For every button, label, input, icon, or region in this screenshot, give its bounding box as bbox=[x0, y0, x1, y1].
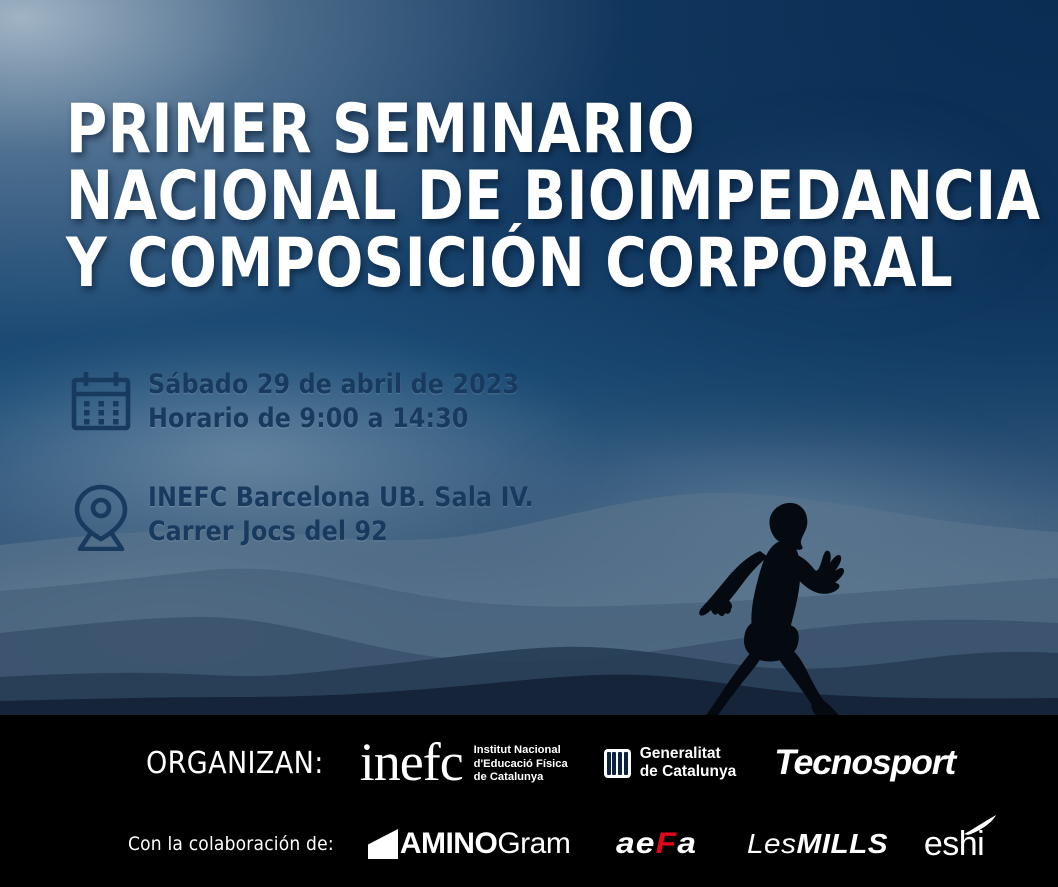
page-title: PRIMER SEMINARIO NACIONAL DE BIOIMPEDANC… bbox=[66, 96, 876, 298]
event-date-line-1: Sábado 29 de abril de 2023 bbox=[148, 368, 519, 402]
event-location-line-2: Carrer Jocs del 92 bbox=[148, 515, 534, 549]
logo-aminogram[interactable]: AMINOGram bbox=[368, 829, 571, 859]
aefa-part-3: a bbox=[678, 827, 698, 860]
inefc-tagline: Institut Nacional d'Educació Física de C… bbox=[474, 744, 568, 786]
title-line-2: NACIONAL DE BIOIMPEDANCIA bbox=[66, 163, 876, 230]
organizers-row: ORGANIZAN: inefc Institut Nacional d'Edu… bbox=[0, 715, 1058, 811]
event-location-row: INEFC Barcelona UB. Sala IV. Carrer Jocs… bbox=[70, 481, 690, 551]
event-date-row: Sábado 29 de abril de 2023 Horario de 9:… bbox=[70, 368, 690, 437]
logo-eshi[interactable]: eshi bbox=[924, 825, 984, 864]
event-date-text: Sábado 29 de abril de 2023 Horario de 9:… bbox=[148, 368, 519, 437]
collaborators-label: Con la colaboración de: bbox=[128, 833, 334, 855]
location-pin-icon bbox=[70, 481, 148, 551]
lesmills-part-2: MILLS bbox=[796, 828, 888, 859]
event-location-text: INEFC Barcelona UB. Sala IV. Carrer Jocs… bbox=[148, 481, 534, 550]
inefc-tagline-line-2: d'Educació Física bbox=[474, 758, 568, 772]
aminogram-mark-icon bbox=[368, 829, 398, 859]
aminogram-bold: AMINO bbox=[400, 827, 498, 860]
eshi-swoosh-icon bbox=[962, 814, 1002, 836]
calendar-icon bbox=[70, 368, 148, 432]
inefc-tagline-line-1: Institut Nacional bbox=[474, 744, 568, 758]
aminogram-light: Gram bbox=[497, 827, 570, 860]
event-details: Sábado 29 de abril de 2023 Horario de 9:… bbox=[70, 368, 690, 595]
generalitat-line-1: Generalitat bbox=[640, 745, 736, 763]
generalitat-shield-icon bbox=[604, 749, 631, 778]
title-line-1: PRIMER SEMINARIO bbox=[66, 96, 876, 163]
logo-inefc[interactable]: inefc Institut Nacional d'Educació Físic… bbox=[360, 741, 568, 786]
runner-silhouette bbox=[680, 497, 1052, 729]
aminogram-wordmark: AMINOGram bbox=[400, 829, 571, 859]
title-line-3: Y COMPOSICIÓN CORPORAL bbox=[66, 230, 876, 297]
aefa-part-1: ae bbox=[616, 827, 656, 860]
aefa-part-2: F bbox=[656, 827, 678, 860]
event-poster: PRIMER SEMINARIO NACIONAL DE BIOIMPEDANC… bbox=[0, 0, 1058, 887]
organizers-label: ORGANIZAN: bbox=[146, 746, 324, 781]
logo-lesmills[interactable]: LesMILLS bbox=[747, 828, 888, 860]
event-date-line-2: Horario de 9:00 a 14:30 bbox=[148, 402, 519, 436]
event-location-line-1: INEFC Barcelona UB. Sala IV. bbox=[148, 481, 534, 515]
logo-generalitat-de-catalunya[interactable]: Generalitat de Catalunya bbox=[604, 745, 736, 782]
inefc-tagline-line-3: de Catalunya bbox=[474, 771, 568, 785]
inefc-wordmark: inefc bbox=[360, 741, 463, 784]
logo-aefa[interactable]: aeFa bbox=[616, 827, 697, 861]
collaborators-row: Con la colaboración de: AMINOGram aeFa L… bbox=[0, 811, 1058, 877]
lesmills-part-1: Les bbox=[747, 828, 796, 859]
generalitat-tagline: Generalitat de Catalunya bbox=[640, 745, 736, 782]
generalitat-line-2: de Catalunya bbox=[640, 763, 736, 781]
sponsors-footer: ORGANIZAN: inefc Institut Nacional d'Edu… bbox=[0, 715, 1058, 887]
logo-tecnosport[interactable]: Tecnosport bbox=[774, 743, 955, 783]
